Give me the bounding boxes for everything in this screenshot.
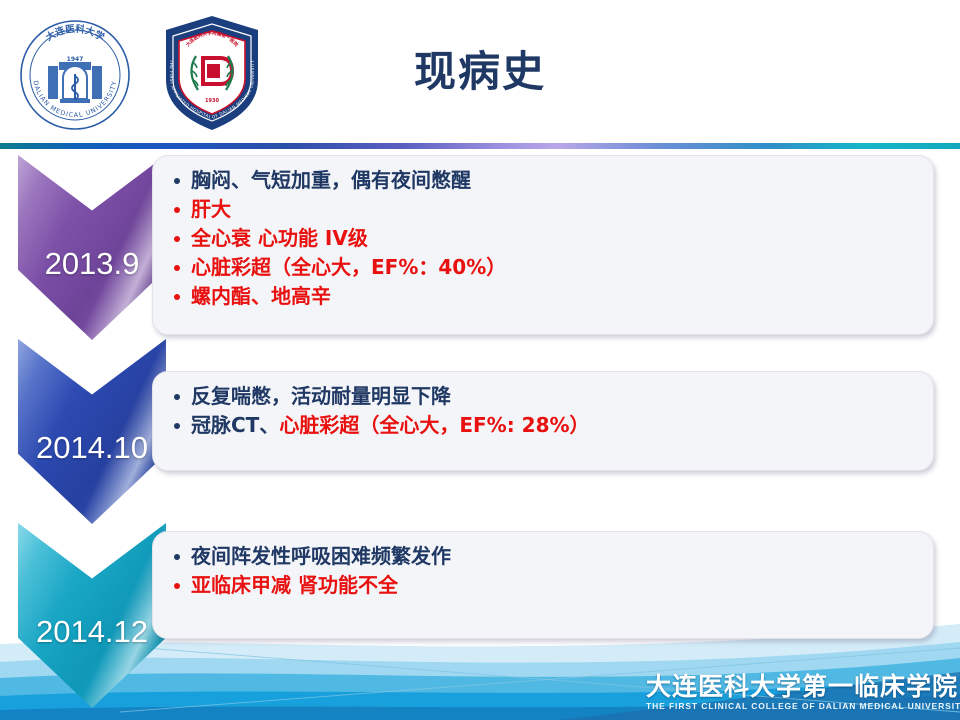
bullet-list: 胸闷、气短加重，偶有夜间憋醒 肝大 全心衰 心功能 IV级 心脏彩超（全心大，E… [167, 166, 919, 311]
footer-college-logo: 大连医科大学第一临床学院 THE FIRST CLINICAL COLLEGE … [646, 673, 946, 712]
bullet-text: 胸闷、气短加重，偶有夜间憋醒 [191, 168, 471, 192]
timeline-marker-2014-12[interactable]: 2014.12 [18, 523, 166, 708]
timeline-section: 2013.9 2014.10 2014.12 胸闷、气短加重，偶有夜间憋醒 肝大… [0, 149, 960, 720]
timeline-date-label: 2014.10 [18, 431, 166, 465]
slide-header: 1947 大连医科大学 DALIAN MEDICAL UNIVERSITY [0, 0, 960, 143]
bullet-text-tail: 心脏彩超（全心大，EF%: 28%） [279, 413, 589, 437]
list-item: 冠脉CT、心脏彩超（全心大，EF%: 28%） [167, 411, 919, 440]
list-item: 心脏彩超（全心大，EF%：40%） [167, 253, 919, 282]
timeline-content-box-2014-12: 夜间阵发性呼吸困难频繁发作 亚临床甲减 肾功能不全 [152, 531, 934, 639]
bullet-text: 全心衰 心功能 IV级 [191, 226, 368, 250]
bullet-text: 肝大 [191, 197, 231, 221]
bullet-text: 螺内酯、地高辛 [191, 284, 331, 308]
page-title: 现病史 [0, 44, 960, 100]
timeline-marker-2013-9[interactable]: 2013.9 [18, 155, 166, 340]
footer-college-name-cn: 大连医科大学第一临床学院 [646, 673, 946, 700]
timeline-content-box-2013-9: 胸闷、气短加重，偶有夜间憋醒 肝大 全心衰 心功能 IV级 心脏彩超（全心大，E… [152, 155, 934, 335]
bullet-text: 反复喘憋，活动耐量明显下降 [191, 384, 451, 408]
list-item: 亚临床甲减 肾功能不全 [167, 571, 919, 600]
list-item: 全心衰 心功能 IV级 [167, 224, 919, 253]
bullet-list: 反复喘憋，活动耐量明显下降 冠脉CT、心脏彩超（全心大，EF%: 28%） [167, 382, 919, 440]
footer-college-name-en: THE FIRST CLINICAL COLLEGE OF DALIAN MED… [646, 700, 946, 712]
timeline-content-box-2014-10: 反复喘憋，活动耐量明显下降 冠脉CT、心脏彩超（全心大，EF%: 28%） [152, 371, 934, 471]
bullet-text: 心脏彩超（全心大，EF%：40%） [191, 255, 506, 279]
list-item: 夜间阵发性呼吸困难频繁发作 [167, 542, 919, 571]
timeline-marker-2014-10[interactable]: 2014.10 [18, 339, 166, 524]
bullet-list: 夜间阵发性呼吸困难频繁发作 亚临床甲减 肾功能不全 [167, 542, 919, 600]
list-item: 螺内酯、地高辛 [167, 282, 919, 311]
list-item: 胸闷、气短加重，偶有夜间憋醒 [167, 166, 919, 195]
bullet-text: 夜间阵发性呼吸困难频繁发作 [191, 544, 451, 568]
bullet-text-lead: 冠脉CT、 [191, 413, 279, 437]
list-item: 反复喘憋，活动耐量明显下降 [167, 382, 919, 411]
timeline-date-label: 2014.12 [18, 615, 166, 649]
bullet-text: 亚临床甲减 肾功能不全 [191, 573, 398, 597]
timeline-date-label: 2013.9 [18, 247, 166, 281]
list-item: 肝大 [167, 195, 919, 224]
presentation-slide: 1947 大连医科大学 DALIAN MEDICAL UNIVERSITY [0, 0, 960, 720]
